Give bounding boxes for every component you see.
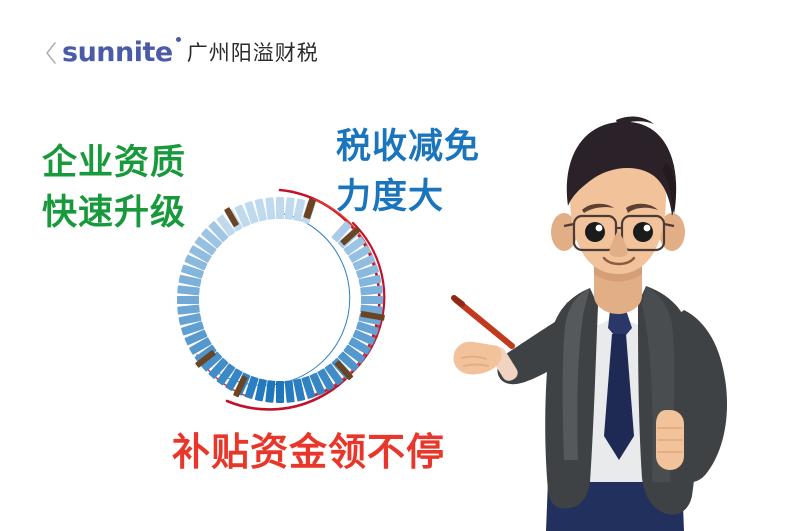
company-name: 广州阳溢财税 xyxy=(187,36,319,70)
character-svg xyxy=(438,110,800,531)
eye-right-highlight xyxy=(644,225,651,232)
pointer-stick xyxy=(454,298,512,346)
ring-tick xyxy=(284,380,294,403)
ring-tick xyxy=(276,197,284,219)
chevron-left-icon xyxy=(44,41,58,65)
brand-logo-text: sunnite xyxy=(62,37,173,68)
headline-green-line-1: 企业资质 xyxy=(42,138,186,188)
ring-tick xyxy=(177,296,199,304)
businessman-illustration xyxy=(438,110,800,531)
brand[interactable]: sunnite 广州阳溢财税 xyxy=(62,36,319,70)
ring-tick xyxy=(177,285,200,295)
ring-tick xyxy=(276,381,284,403)
arc-blue-inner xyxy=(215,213,350,385)
ring-tick xyxy=(177,304,200,314)
poster-canvas: sunnite 广州阳溢财税 企业资质 快速升级 税收减免 力度大 补贴资金领不… xyxy=(0,0,800,531)
eye-left xyxy=(585,222,605,242)
radial-tick-ring-graphic xyxy=(163,183,397,417)
page-header: sunnite 广州阳溢财税 xyxy=(0,0,800,100)
headline-red-line-1: 补贴资金领不停 xyxy=(172,428,445,476)
ring-svg xyxy=(163,183,397,417)
brand-logo: sunnite xyxy=(62,36,183,70)
eye-right xyxy=(633,222,653,242)
eye-left-highlight xyxy=(596,225,603,232)
back-button[interactable] xyxy=(38,40,64,66)
headline-red: 补贴资金领不停 xyxy=(172,428,445,476)
brand-registered-dot xyxy=(176,37,181,42)
ring-tick xyxy=(265,380,275,403)
ring-tick xyxy=(265,197,275,220)
ring-tick xyxy=(361,296,383,304)
